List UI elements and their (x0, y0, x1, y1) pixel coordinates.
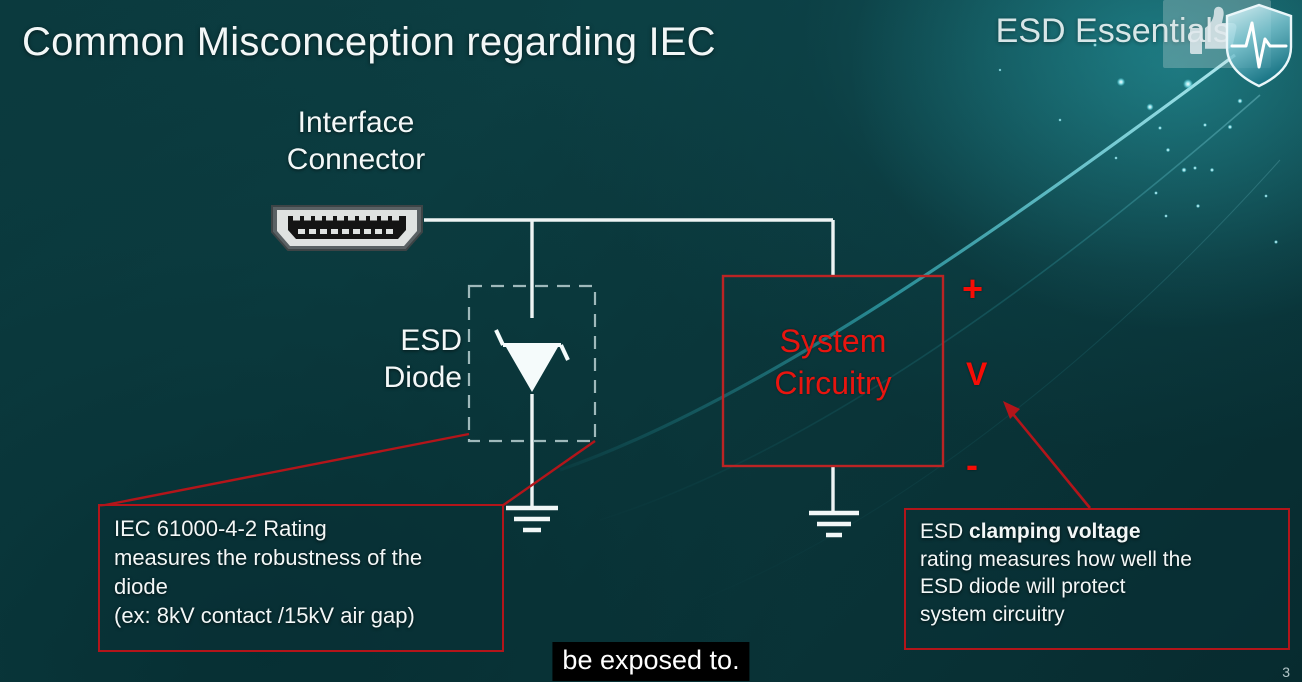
callout-left-line3: diode (114, 572, 490, 601)
callout-right-line1: ESD clamping voltage (920, 518, 1276, 546)
callout-left-leader-lines (100, 434, 595, 506)
slide-canvas: Common Misconception regarding IEC ESD E… (0, 0, 1302, 682)
callout-left-line2: measures the robustness of the (114, 543, 490, 572)
callout-right-leader-arrow (1003, 401, 1090, 508)
page-number: 3 (1282, 664, 1290, 680)
system-label-line1: System (724, 320, 942, 362)
video-caption: be exposed to. (552, 642, 749, 681)
callout-right-bold-term: clamping voltage (969, 520, 1141, 543)
callout-right-line3: ESD diode will protect (920, 573, 1276, 601)
ground-symbol-left-icon (506, 508, 558, 530)
system-circuitry-label: System Circuitry (724, 320, 942, 404)
callout-right-prefix: ESD (920, 520, 969, 543)
callout-right-line2: rating measures how well the (920, 546, 1276, 574)
system-label-line2: Circuitry (724, 362, 942, 404)
polarity-plus-label: + (962, 268, 983, 310)
callout-right-clamping-voltage: ESD clamping voltage rating measures how… (904, 508, 1290, 650)
callout-left-line4: (ex: 8kV contact /15kV air gap) (114, 601, 490, 630)
callout-left-iec-rating: IEC 61000-4-2 Rating measures the robust… (98, 504, 504, 652)
polarity-voltage-label: V (966, 356, 987, 393)
callout-left-line1: IEC 61000-4-2 Rating (114, 514, 490, 543)
polarity-minus-label: - (966, 444, 978, 486)
zener-tvs-diode-icon (496, 330, 568, 390)
callout-right-line4: system circuitry (920, 601, 1276, 629)
ground-symbol-right-icon (809, 513, 859, 535)
